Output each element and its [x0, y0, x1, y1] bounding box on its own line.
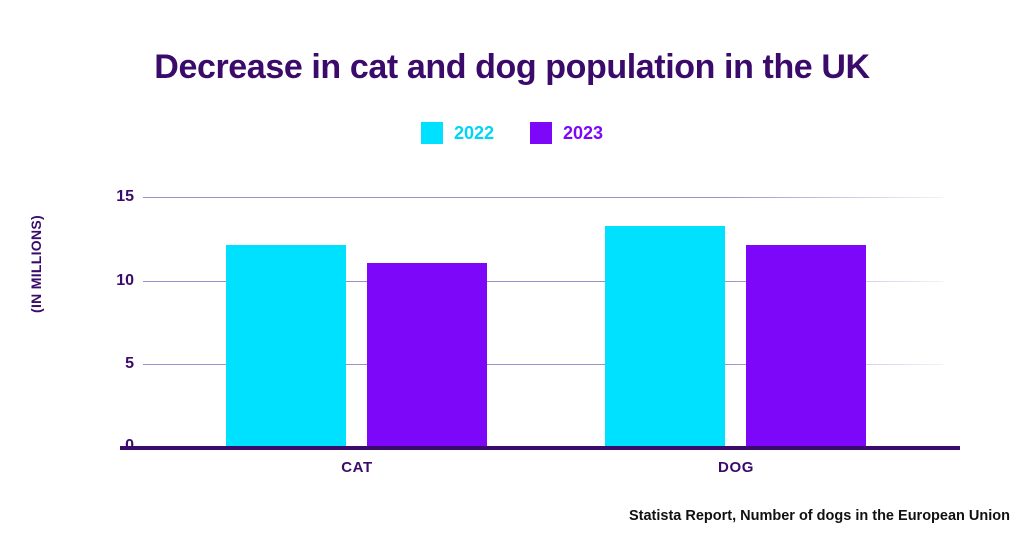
bar-cat-2023[interactable] [367, 263, 487, 448]
bar-cat-2022[interactable] [226, 245, 346, 448]
y-tick-5: 5 [92, 356, 134, 372]
y-tick-10: 10 [92, 273, 134, 289]
x-tick-label-cat: CAT [227, 459, 487, 476]
chart-canvas: Decrease in cat and dog population in th… [0, 0, 1024, 536]
y-tick-15: 15 [92, 189, 134, 205]
x-tick-label-dog: DOG [606, 459, 866, 476]
x-axis-baseline [120, 446, 960, 450]
y-axis-title: (IN MILLIONS) [28, 184, 44, 344]
bar-dog-2023[interactable] [746, 245, 866, 448]
bar-dog-2022[interactable] [605, 226, 725, 448]
gridline-15 [143, 197, 943, 198]
plot-area: (IN MILLIONS) 15 10 5 0 CAT DOG [0, 0, 1024, 536]
source-caption: Statista Report, Number of dogs in the E… [629, 508, 1010, 524]
